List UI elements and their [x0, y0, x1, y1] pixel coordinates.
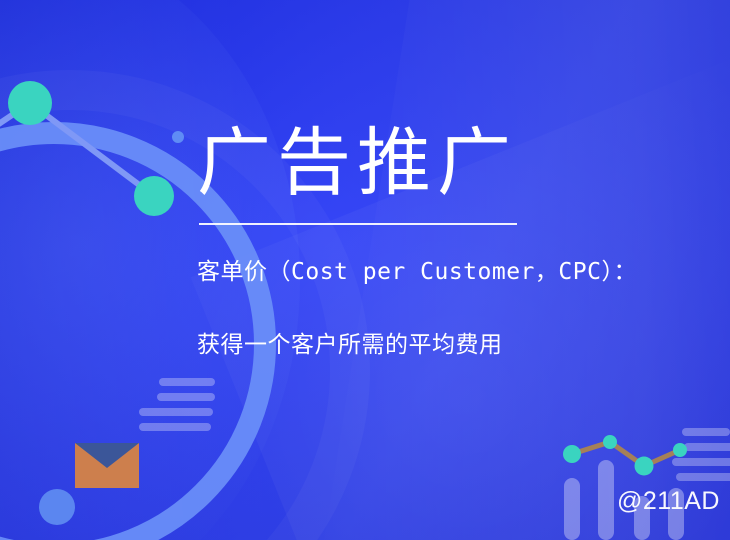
envelope-icon: [75, 443, 139, 488]
text-lines-motif-left-icon: [137, 378, 215, 438]
decorative-dot-small-icon: [172, 131, 184, 143]
page-title: 广告推广: [197, 121, 517, 205]
title-divider: [199, 223, 517, 225]
watermark-label: @211AD: [617, 487, 720, 516]
slide-canvas: 广告推广 客单价（Cost per Customer，CPC）： 获得一个客户所…: [0, 0, 730, 540]
envelope-flap-icon: [75, 443, 139, 468]
subtitle-line-2: 获得一个客户所需的平均费用: [197, 325, 503, 359]
subtitle-line-1: 客单价（Cost per Customer，CPC）：: [197, 252, 637, 286]
bar-line-chart-motif-icon: [556, 432, 706, 540]
decorative-dot-large-icon: [39, 489, 75, 525]
chart-line-series: [556, 432, 706, 492]
